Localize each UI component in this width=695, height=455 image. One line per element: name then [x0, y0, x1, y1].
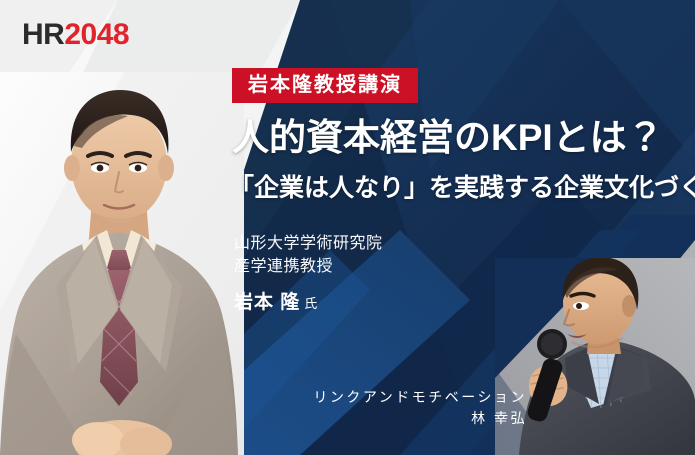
speaker-primary-nameline: 岩本 隆氏 [234, 287, 383, 314]
speaker-primary-affiliation-line1: 山形大学学術研究院 [234, 232, 383, 255]
speaker-secondary-organization: リンクアンドモチベーション [313, 387, 527, 408]
lecture-badge: 岩本隆教授講演 [232, 68, 418, 103]
speaker-primary-affiliation-line2: 産学連携教授 [234, 255, 383, 278]
speaker-primary-honorific: 氏 [304, 296, 318, 311]
page-title: 人的資本経営のKPIとは？ [232, 117, 664, 158]
logo-text-2048: 2048 [64, 18, 129, 51]
speaker-primary-name: 岩本 隆 [234, 292, 300, 313]
seminar-banner: HR2048 岩本隆教授講演 人的資本経営のKPIとは？ 「企業は人なり」を実践… [0, 0, 695, 455]
professor-portrait-photo [0, 72, 244, 455]
page-subtitle: 「企業は人なり」を実践する企業文化づくり [229, 173, 695, 203]
hr2048-logo[interactable]: HR2048 [22, 20, 129, 50]
professor-portrait-illustration [0, 72, 244, 455]
speaker-secondary-block: リンクアンドモチベーション 林 幸弘 [313, 387, 527, 429]
speaker-primary-block: 山形大学学術研究院 産学連携教授 岩本 隆氏 [234, 232, 383, 314]
logo-text-hr: HR [22, 18, 64, 51]
speaker-secondary-name: 林 幸弘 [313, 408, 527, 429]
